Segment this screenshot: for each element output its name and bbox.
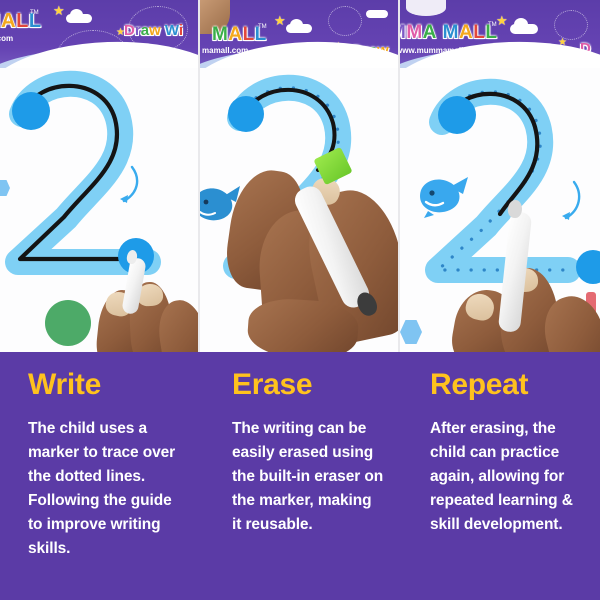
step-title-repeat: Repeat: [430, 370, 584, 400]
direction-arrow-1: [108, 165, 142, 207]
step-body-erase: The writing can be easily erased using t…: [232, 417, 384, 537]
start-dot-1: [12, 92, 50, 130]
whale-sticker-3: [414, 172, 470, 218]
brand-banner-3: ★ ★ MMA MALL TM www.mummamall.com D: [400, 0, 600, 68]
start-dot-2: [228, 96, 264, 132]
step-body-repeat: After erasing, the child can practice ag…: [430, 417, 584, 537]
brand-banner-1: ★ ★ MALL TM ll.com Draw Wi: [0, 0, 198, 68]
photo-strip: ★ ★ MALL TM ll.com Draw Wi: [0, 0, 600, 352]
photo-panel-write: ★ ★ MALL TM ll.com Draw Wi: [0, 0, 200, 352]
star-icon: ★: [496, 14, 508, 27]
step-column-erase: Erase The writing can be easily erased u…: [200, 352, 400, 600]
step-column-repeat: Repeat After erasing, the child can prac…: [400, 352, 600, 600]
step-title-write: Write: [28, 370, 184, 400]
green-dot-accent-1: [45, 300, 91, 346]
step-title-erase: Erase: [232, 370, 384, 400]
star-icon: ★: [558, 38, 567, 48]
brand-tagline-2: Draw: [352, 42, 389, 59]
step-column-write: Write The child uses a marker to trace o…: [0, 352, 200, 600]
start-dot-3: [438, 96, 476, 134]
brand-site-1: ll.com: [0, 34, 13, 43]
brand-logo-3: MMA MALL: [400, 22, 497, 44]
star-icon: ★: [274, 14, 286, 27]
steps-text-band: Write The child uses a marker to trace o…: [0, 352, 600, 600]
brand-tagline-1: Draw Wi: [124, 22, 183, 39]
star-icon: ★: [334, 42, 343, 52]
star-icon: ★: [53, 4, 65, 17]
step-body-write: The child uses a marker to trace over th…: [28, 417, 184, 561]
direction-arrow-3: [552, 180, 584, 224]
brand-tagline-3: D: [580, 40, 591, 57]
brand-banner-2: ★ ★ MALL TM mamall.com Draw: [200, 0, 398, 68]
photo-panel-repeat: ★ ★ MMA MALL TM www.mummamall.com D: [400, 0, 600, 352]
brand-site-3: www.mummamall.com: [400, 46, 482, 55]
product-infographic: ★ ★ MALL TM ll.com Draw Wi: [0, 0, 600, 600]
brand-site-2: mamall.com: [202, 46, 248, 55]
photo-panel-erase: ★ ★ MALL TM mamall.com Draw: [200, 0, 400, 352]
